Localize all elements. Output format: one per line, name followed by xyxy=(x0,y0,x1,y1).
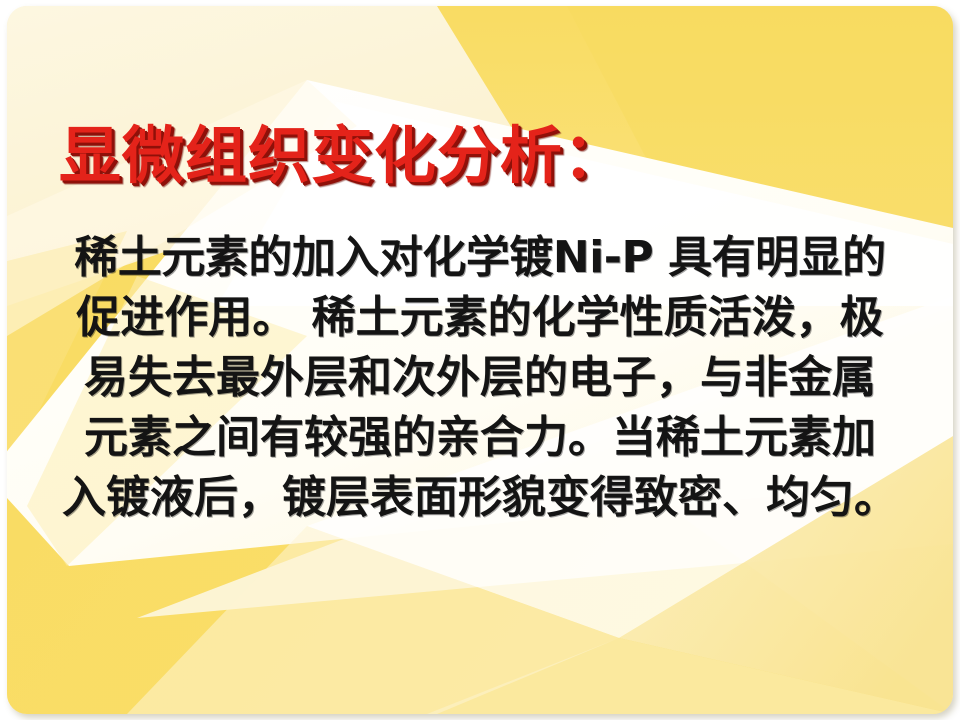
body-line: 易失去最外层和次外层的电子，与非金属 xyxy=(41,348,919,408)
title-block: 显微组织变化分析： xyxy=(7,125,953,187)
slide-content: 显微组织变化分析： 稀土元素的加入对化学镀Ni-P 具有明显的 促进作用。 稀土… xyxy=(7,6,953,714)
body-text-block: 稀土元素的加入对化学镀Ni-P 具有明显的 促进作用。 稀土元素的化学性质活泼，… xyxy=(7,228,953,528)
body-line: 稀土元素的加入对化学镀Ni-P 具有明显的 xyxy=(41,228,919,288)
slide-canvas: 显微组织变化分析： 稀土元素的加入对化学镀Ni-P 具有明显的 促进作用。 稀土… xyxy=(7,6,953,714)
body-line: 促进作用。 稀土元素的化学性质活泼，极 xyxy=(41,288,919,348)
body-line: 元素之间有较强的亲合力。当稀土元素加 xyxy=(41,408,919,468)
page-title: 显微组织变化分析： xyxy=(59,125,626,187)
body-line: 入镀液后，镀层表面形貌变得致密、均匀。 xyxy=(41,468,919,528)
